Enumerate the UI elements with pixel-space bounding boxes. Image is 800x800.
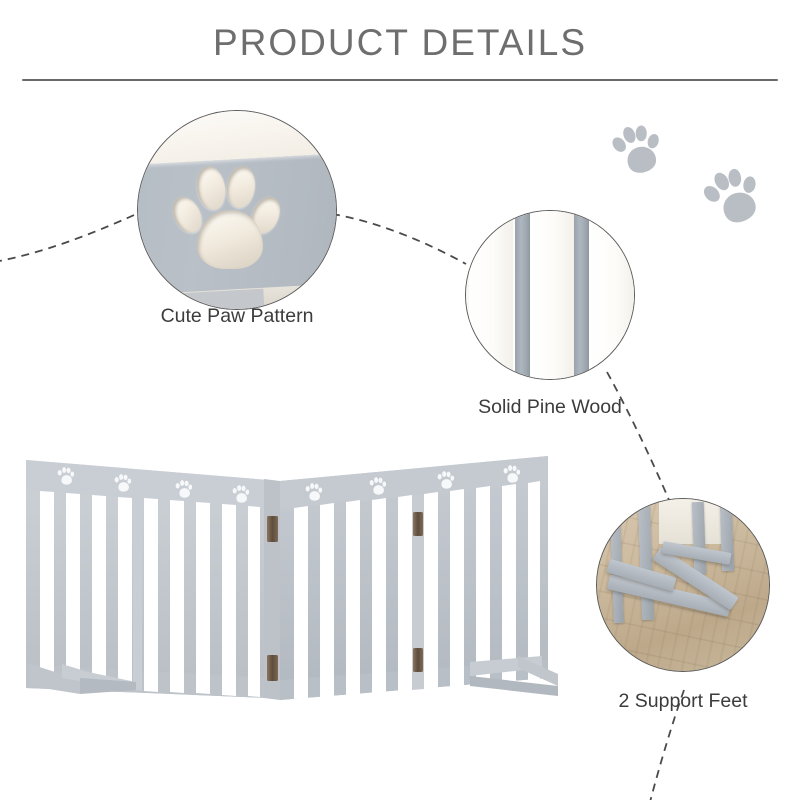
page-title: PRODUCT DETAILS	[0, 22, 800, 64]
gate-center-fold	[264, 479, 280, 700]
connector-paw-to-wood	[332, 214, 466, 264]
callout-support-feet[interactable]	[596, 498, 770, 672]
callout-label-solid-pine-wood: Solid Pine Wood	[450, 396, 650, 419]
paw-print-lower-icon	[696, 160, 769, 231]
infographic-canvas: PRODUCT DETAILS Cute Paw Pattern Solid P…	[0, 0, 800, 800]
paw-main-pad	[197, 210, 262, 269]
gate-wing-right	[280, 456, 558, 700]
pine-slat-highlight-right	[589, 210, 635, 380]
callout-cute-paw-pattern[interactable]	[137, 110, 337, 310]
gate-hinge-mid-top	[413, 512, 423, 536]
title-divider	[22, 79, 778, 81]
pine-slat-2	[574, 210, 589, 380]
paw-print-upper-icon	[607, 120, 667, 178]
gate-wing-left	[26, 460, 268, 698]
connector-left-to-paw	[0, 212, 141, 262]
gate-panel-1-mid-stile	[133, 497, 142, 691]
gate-panel-1-slat-gaps	[40, 491, 260, 697]
gate-hinge-mid-bottom	[413, 648, 423, 672]
pine-slat-highlight-left	[469, 210, 513, 380]
callout-label-support-feet: 2 Support Feet	[583, 690, 783, 713]
gate-hinge-bottom	[267, 655, 278, 681]
product-photo-folding-pet-gate[interactable]	[18, 450, 578, 750]
callout-solid-pine-wood[interactable]	[465, 210, 635, 380]
pine-slat-1	[515, 210, 530, 380]
pine-slat-highlight-mid	[530, 210, 574, 380]
callout-label-cute-paw-pattern: Cute Paw Pattern	[137, 305, 337, 328]
connector-wood-to-feet	[607, 372, 669, 500]
gate-hinge-top	[267, 516, 278, 542]
